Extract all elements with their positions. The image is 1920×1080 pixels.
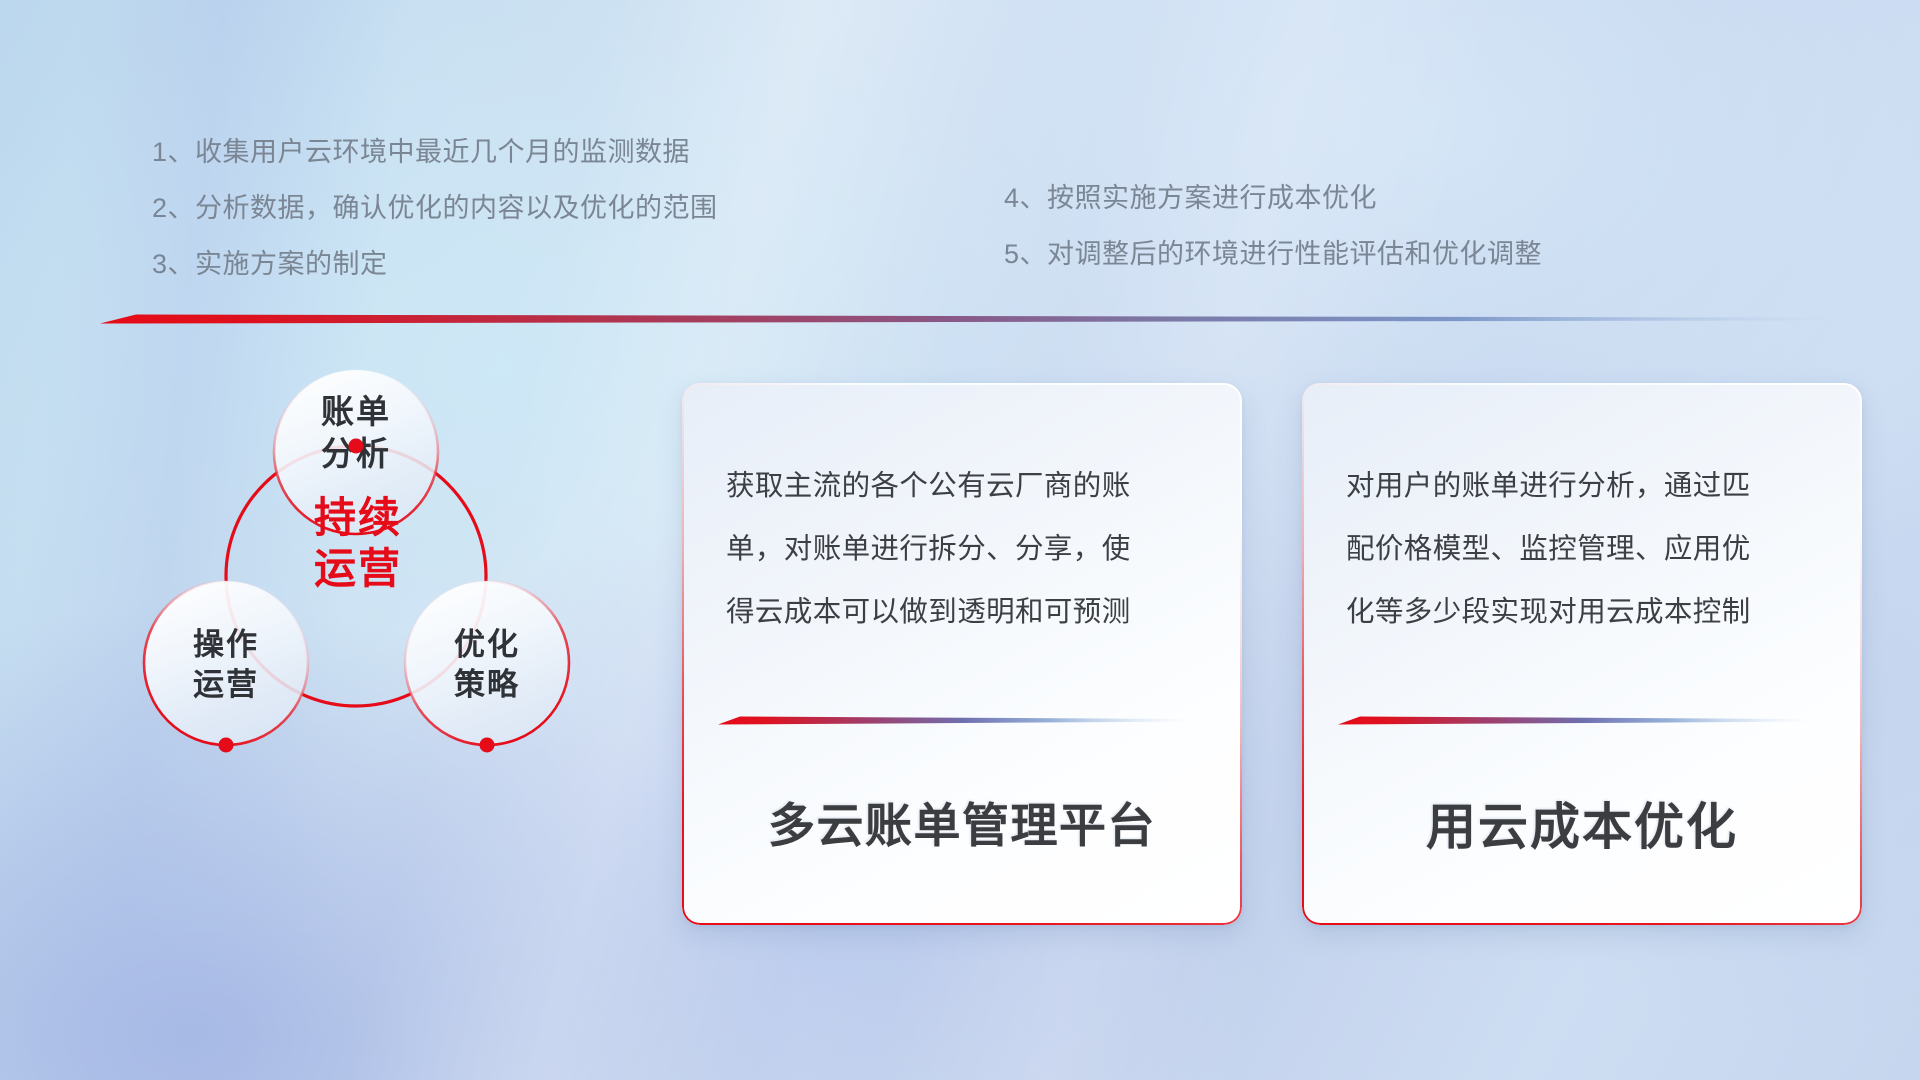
step-number: 3、	[152, 251, 195, 278]
venn-node-label-line1: 账单	[321, 393, 391, 430]
step-text: 按照实施方案进行成本优化	[1047, 185, 1377, 212]
steps-list-left: 1、 收集用户云环境中最近几个月的监测数据 2、 分析数据，确认优化的内容以及优…	[152, 124, 718, 292]
venn-center-label-line2: 运营	[314, 545, 402, 592]
venn-center-label-line1: 持续	[314, 494, 402, 541]
venn-node-right[interactable]: 优化 策略	[405, 581, 569, 745]
card-body-line: 化等多少段实现对用云成本控制	[1346, 581, 1828, 644]
card-body-line: 得云成本可以做到透明和可预测	[726, 581, 1208, 644]
step-text: 实施方案的制定	[195, 251, 388, 278]
slide-canvas: 1、 收集用户云环境中最近几个月的监测数据 2、 分析数据，确认优化的内容以及优…	[0, 0, 1920, 1080]
feature-card-cloud-cost-optimization[interactable]: 对用户的账单进行分析，通过匹 配价格模型、监控管理、应用优 化等多少段实现对用云…	[1302, 383, 1862, 925]
continuous-operations-diagram: 账单 分析 操作 运营 优化 策略 持续 运营	[60, 340, 660, 940]
card-body-text: 对用户的账单进行分析，通过匹 配价格模型、监控管理、应用优 化等多少段实现对用云…	[1346, 455, 1828, 644]
card-body-line: 对用户的账单进行分析，通过匹	[1346, 455, 1828, 518]
header-divider	[100, 310, 1840, 326]
venn-node-label-line2: 策略	[454, 667, 520, 702]
feature-card-multi-cloud-billing[interactable]: 获取主流的各个公有云厂商的账 单，对账单进行拆分、分享，使 得云成本可以做到透明…	[682, 383, 1242, 925]
venn-node-label-line1: 优化	[454, 627, 520, 662]
venn-node-label-line1: 操作	[193, 627, 259, 662]
card-body-text: 获取主流的各个公有云厂商的账 单，对账单进行拆分、分享，使 得云成本可以做到透明…	[726, 455, 1208, 644]
card-title: 用云成本优化	[1302, 787, 1862, 859]
step-number: 5、	[1004, 241, 1047, 268]
card-title: 多云账单管理平台	[682, 787, 1242, 856]
step-item: 2、 分析数据，确认优化的内容以及优化的范围	[152, 180, 718, 236]
venn-dot-top	[349, 439, 364, 454]
step-text: 对调整后的环境进行性能评估和优化调整	[1047, 241, 1542, 268]
step-item: 4、 按照实施方案进行成本优化	[1004, 170, 1542, 226]
step-text: 收集用户云环境中最近几个月的监测数据	[195, 139, 690, 166]
venn-node-left[interactable]: 操作 运营	[144, 581, 308, 745]
step-item: 5、 对调整后的环境进行性能评估和优化调整	[1004, 226, 1542, 282]
step-text: 分析数据，确认优化的内容以及优化的范围	[195, 195, 718, 222]
card-body-line: 单，对账单进行拆分、分享，使	[726, 518, 1208, 581]
card-divider	[1338, 713, 1810, 727]
card-divider	[718, 713, 1190, 727]
step-number: 2、	[152, 195, 195, 222]
step-item: 1、 收集用户云环境中最近几个月的监测数据	[152, 124, 718, 180]
step-number: 1、	[152, 139, 195, 166]
venn-node-label-line2: 运营	[193, 667, 259, 702]
card-body-line: 配价格模型、监控管理、应用优	[1346, 518, 1828, 581]
step-number: 4、	[1004, 185, 1047, 212]
venn-dot-right	[480, 738, 495, 753]
step-item: 3、 实施方案的制定	[152, 236, 718, 292]
venn-dot-left	[219, 738, 234, 753]
card-body-line: 获取主流的各个公有云厂商的账	[726, 455, 1208, 518]
steps-list-right: 4、 按照实施方案进行成本优化 5、 对调整后的环境进行性能评估和优化调整	[1004, 170, 1542, 282]
